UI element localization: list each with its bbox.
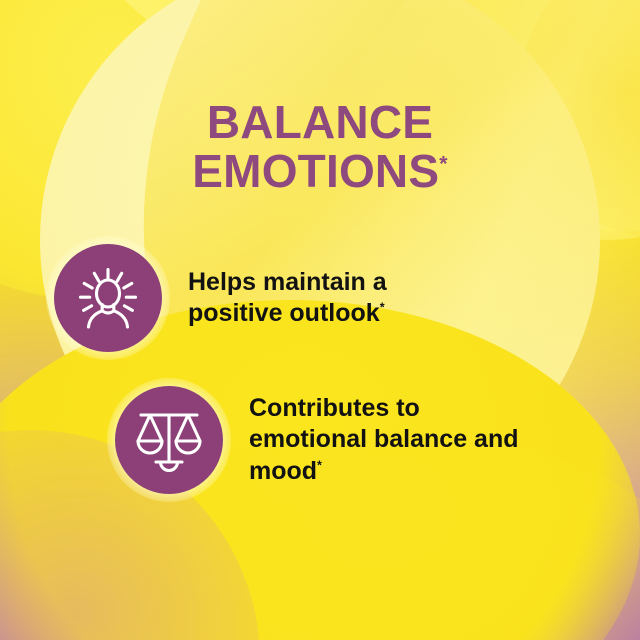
benefit-icon-container [107,378,231,502]
benefit-label-text: Helps maintain a positive outlook [188,268,387,328]
benefit-footnote-marker: * [380,301,385,315]
page-title-footnote-marker: * [439,152,447,175]
promo-graphic: BALANCE EMOTIONS* [0,0,640,640]
benefit-footnote-marker: * [317,458,322,472]
content-layer: BALANCE EMOTIONS* [0,0,640,640]
page-title-line-2: EMOTIONS* [192,147,447,196]
benefit-label: Contributes to emotional balance and moo… [249,393,524,488]
benefit-item-emotional-balance: Contributes to emotional balance and moo… [107,378,524,502]
benefit-label-text: Contributes to emotional balance and moo… [249,394,519,485]
radiant-person-icon [54,244,162,352]
benefit-label: Helps maintain a positive outlook* [188,267,488,330]
balance-scale-icon [115,386,223,494]
page-title: BALANCE EMOTIONS* [0,98,640,196]
page-title-line-1: BALANCE [207,96,433,148]
benefit-item-positive-outlook: Helps maintain a positive outlook* [46,236,488,360]
page-title-line-2-text: EMOTIONS [192,145,439,197]
benefit-icon-container [46,236,170,360]
